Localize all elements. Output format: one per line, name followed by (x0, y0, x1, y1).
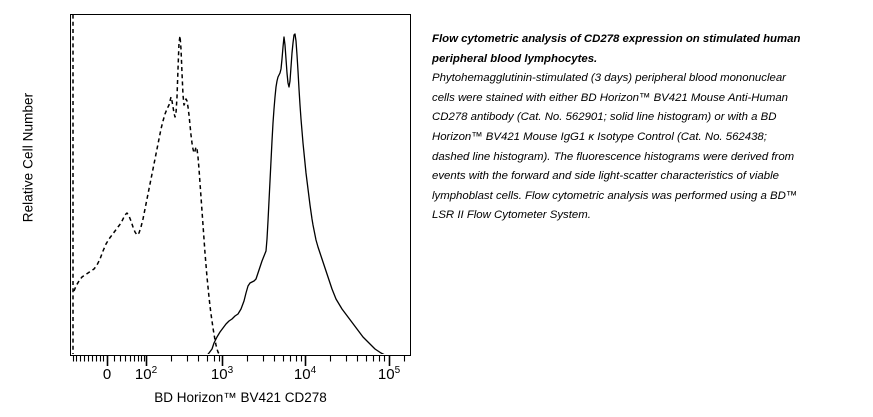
x-tick-label-base: 10 (211, 366, 228, 383)
x-tick-label-exponent: 5 (395, 365, 401, 376)
x-tick-label-3: 104 (294, 366, 316, 383)
histogram-traces (71, 15, 409, 354)
x-tick-label-base: 10 (294, 366, 311, 383)
caption-heading: Flow cytometric analysis of CD278 expres… (432, 30, 804, 69)
y-axis-title: Relative Cell Number (21, 18, 36, 298)
x-tick-label-4: 105 (378, 366, 400, 383)
x-tick-label-1: 102 (135, 366, 157, 383)
x-tick-label-2: 103 (211, 366, 233, 383)
figure-container: Relative Cell Number 0102103104105 BD Ho… (0, 0, 873, 417)
x-tick-label-exponent: 3 (228, 365, 234, 376)
trace-dashed-isotype (73, 15, 409, 354)
x-tick-label-exponent: 2 (152, 365, 158, 376)
x-tick-label-base: 10 (378, 366, 395, 383)
x-tick-label-0: 0 (103, 366, 111, 383)
x-tick-label-exponent: 4 (311, 365, 317, 376)
caption-body: Phytohemagglutinin-stimulated (3 days) p… (432, 72, 797, 221)
x-tick-label-base: 0 (103, 366, 111, 383)
x-axis-tick-labels: 0102103104105 (70, 366, 411, 390)
x-axis-title: BD Horizon™ BV421 CD278 (70, 390, 411, 405)
x-tick-label-base: 10 (135, 366, 152, 383)
plot-frame (70, 14, 411, 356)
figure-caption: Flow cytometric analysis of CD278 expres… (432, 30, 804, 226)
histogram-plot-panel: Relative Cell Number 0102103104105 BD Ho… (0, 0, 430, 417)
trace-solid-cd278 (206, 34, 409, 354)
